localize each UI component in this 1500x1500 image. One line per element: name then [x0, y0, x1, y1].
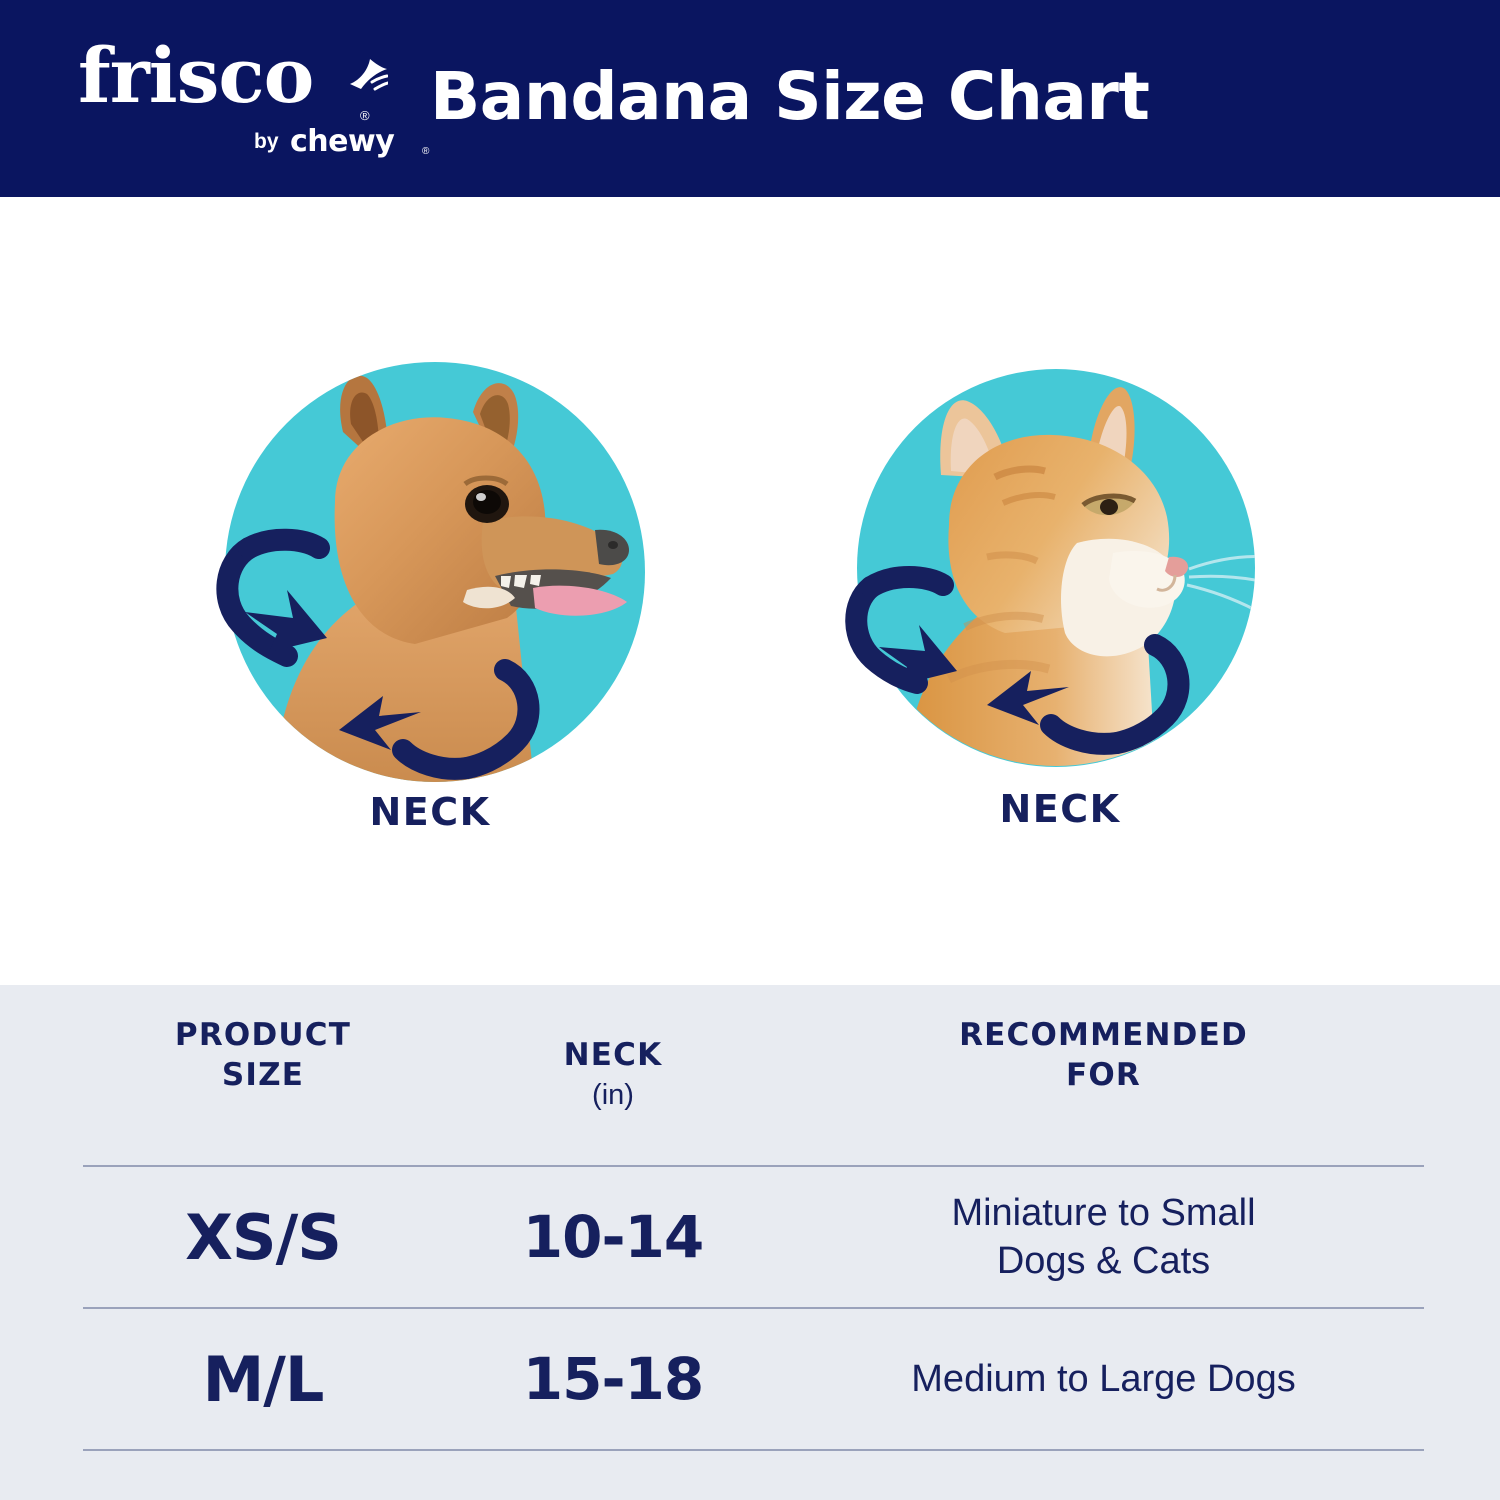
cell-neck: 10-14 — [443, 1203, 783, 1271]
cell-neck: 15-18 — [443, 1345, 783, 1413]
cat-circle-background — [857, 369, 1255, 767]
illustration-area: NECK — [0, 197, 1500, 985]
logo-chewy-registered-mark: ® — [422, 146, 429, 157]
column-header-recommended-for-line1: RECOMMENDED — [959, 1017, 1248, 1053]
table-row: XS/S 10-14 Miniature to Small Dogs & Cat… — [83, 1167, 1424, 1307]
cat-illustration: NECK — [845, 357, 1275, 877]
column-header-product-size-line1: PRODUCT — [175, 1017, 351, 1053]
cell-product-size: XS/S — [83, 1201, 443, 1274]
size-table-section: PRODUCT SIZE (in) NECK (in) RECOMMENDED … — [0, 985, 1500, 1500]
column-header-neck: NECK (in) — [443, 1035, 783, 1115]
column-header-neck-line1: NECK — [564, 1037, 663, 1073]
logo-chewy-wordmark: chewy — [290, 124, 394, 159]
frisco-tail-swoosh-icon — [346, 58, 388, 94]
cell-recommended-for: Miniature to Small Dogs & Cats — [783, 1189, 1424, 1285]
table-header-row: PRODUCT SIZE (in) NECK (in) RECOMMENDED … — [83, 985, 1424, 1165]
cell-product-size: M/L — [83, 1343, 443, 1416]
logo-by-text: by — [254, 130, 279, 154]
table-divider-3 — [83, 1449, 1424, 1451]
cell-recommended-for-line1: Medium to Large Dogs — [911, 1358, 1295, 1400]
size-table: PRODUCT SIZE (in) NECK (in) RECOMMENDED … — [83, 985, 1424, 1451]
frisco-logo: frisco ® by chewy ® — [78, 36, 378, 166]
table-row: M/L 15-18 Medium to Large Dogs — [83, 1309, 1424, 1449]
dog-illustration: NECK — [215, 352, 645, 872]
column-header-recommended-for-line2: FOR — [1066, 1057, 1141, 1093]
dog-neck-label: NECK — [215, 790, 645, 834]
column-header-product-size-line2: SIZE — [222, 1057, 304, 1093]
header-bar: frisco ® by chewy ® Bandana Size Chart — [0, 0, 1500, 197]
dog-circle-background — [225, 362, 645, 782]
logo-registered-mark: ® — [360, 108, 370, 123]
column-header-neck-unit: (in) — [443, 1075, 783, 1115]
logo-wordmark: frisco — [78, 36, 313, 116]
cell-recommended-for-line2: Dogs & Cats — [997, 1240, 1210, 1282]
cat-neck-label: NECK — [845, 787, 1275, 831]
cell-recommended-for: Medium to Large Dogs — [783, 1355, 1424, 1403]
page-title: Bandana Size Chart — [430, 57, 1430, 137]
column-header-recommended-for: RECOMMENDED FOR (in) — [783, 1015, 1424, 1135]
bandana-size-chart-page: frisco ® by chewy ® Bandana Size Chart — [0, 0, 1500, 1500]
column-header-product-size: PRODUCT SIZE (in) — [83, 1015, 443, 1135]
cell-recommended-for-line1: Miniature to Small — [951, 1192, 1255, 1234]
